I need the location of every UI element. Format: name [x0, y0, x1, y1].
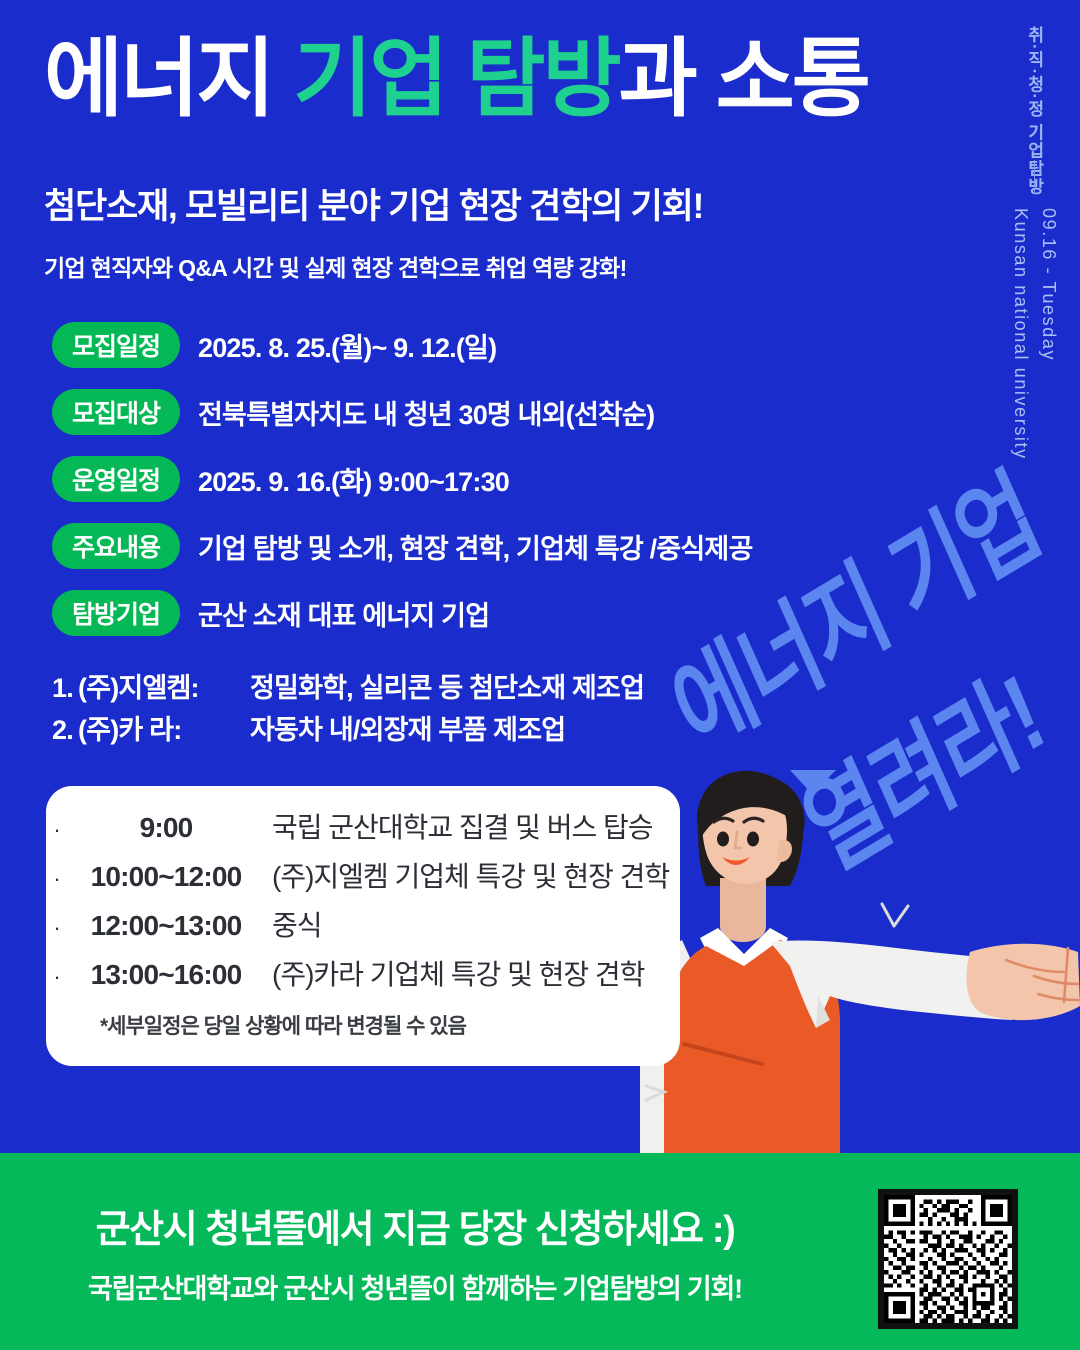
info-value-recruit-target: 전북특별자치도 내 청년 30명 내외(선착순): [198, 393, 654, 432]
rail-korean-text: 취·직·청·정 기업탐방: [1021, 26, 1047, 146]
info-badge-visit-company: 탐방기업: [52, 590, 180, 636]
info-list: 모집일정 2025. 8. 25.(월)~ 9. 12.(일) 모집대상 전북특…: [52, 322, 753, 657]
qr-code[interactable]: [878, 1189, 1018, 1329]
schedule-time: 12:00~13:00: [68, 912, 264, 940]
vertical-rail: 취·직·청·정 기업탐방 09.16 - TuesdayKunsan natio…: [988, 0, 1080, 530]
subtitle-secondary: 기업 현직자와 Q&A 시간 및 실제 현장 견학으로 취업 역량 강화!: [44, 249, 627, 283]
info-row: 탐방기업 군산 소재 대표 에너지 기업: [52, 590, 753, 636]
info-badge-recruit-target: 모집대상: [52, 389, 180, 435]
rail-english-text: 09.16 - TuesdayKunsan national universit…: [1006, 208, 1062, 460]
bullet-icon: ·: [46, 917, 68, 939]
company-description: 정밀화학, 실리콘 등 첨단소재 제조업: [250, 668, 644, 710]
info-value-main-content: 기업 탐방 및 소개, 현장 견학, 기업체 특강 /중식제공: [198, 527, 753, 566]
man-pointing-svg: [640, 770, 1080, 1153]
company-name: (주)카 라:: [78, 710, 250, 752]
info-row: 모집대상 전북특별자치도 내 청년 30명 내외(선착순): [52, 389, 753, 435]
schedule-row: · 13:00~16:00 (주)카라 기업체 특강 및 현장 견학: [46, 961, 680, 989]
info-value-operation-date: 2025. 9. 16.(화) 9:00~17:30: [198, 460, 509, 499]
schedule-time: 9:00: [68, 814, 264, 842]
title-part-2-accent: 기업 탐방: [293, 31, 618, 127]
info-value-visit-company: 군산 소재 대표 에너지 기업: [198, 594, 489, 633]
company-list: 1. (주)지엘켐: 정밀화학, 실리콘 등 첨단소재 제조업 2. (주)카 …: [52, 668, 644, 752]
info-value-recruit-period: 2025. 8. 25.(월)~ 9. 12.(일): [198, 326, 496, 365]
schedule-description: (주)카라 기업체 특강 및 현장 견학: [264, 961, 644, 989]
bullet-icon: ·: [46, 966, 68, 988]
info-badge-main-content: 주요내용: [52, 523, 180, 569]
footer-banner: 군산시 청년뜰에서 지금 당장 신청하세요 :) 국립군산대학교와 군산시 청년…: [0, 1153, 1080, 1350]
schedule-row: · 9:00 국립 군산대학교 집결 및 버스 탑승: [46, 814, 680, 842]
info-badge-operation-date: 운영일정: [52, 456, 180, 502]
title-part-1: 에너지: [44, 31, 293, 127]
footer-text-block: 군산시 청년뜰에서 지금 당장 신청하세요 :) 국립군산대학교와 군산시 청년…: [0, 1153, 830, 1350]
title-part-3: 과 소통: [619, 31, 868, 127]
list-item: 1. (주)지엘켐: 정밀화학, 실리콘 등 첨단소재 제조업: [52, 668, 644, 710]
schedule-time: 13:00~16:00: [68, 961, 264, 989]
schedule-row: · 10:00~12:00 (주)지엘켐 기업체 특강 및 현장 견학: [46, 863, 680, 891]
info-row: 운영일정 2025. 9. 16.(화) 9:00~17:30: [52, 456, 753, 502]
schedule-time: 10:00~12:00: [68, 863, 264, 891]
qr-code-icon: [884, 1195, 1012, 1323]
footer-headline: 군산시 청년뜰에서 지금 당장 신청하세요 :): [96, 1198, 735, 1253]
company-name: (주)지엘켐:: [78, 668, 250, 710]
schedule-description: 국립 군산대학교 집결 및 버스 탑승: [264, 814, 653, 842]
company-index: 1.: [52, 668, 78, 710]
schedule-description: (주)지엘켐 기업체 특강 및 현장 견학: [264, 863, 669, 891]
list-item: 2. (주)카 라: 자동차 내/외장재 부품 제조업: [52, 710, 644, 752]
schedule-description: 중식: [264, 912, 322, 940]
schedule-note: *세부일정은 당일 상황에 따라 변경될 수 있음: [46, 1010, 680, 1040]
rail-place: Kunsan national university: [1011, 208, 1031, 460]
bullet-icon: ·: [46, 819, 68, 841]
page-title: 에너지 기업 탐방과 소통: [44, 34, 868, 124]
rail-divider: [1034, 160, 1035, 194]
poster-root: 에너지 기업 열려라! 취·직·청·정 기업탐방 09.16 - Tuesday…: [0, 0, 1080, 1350]
subtitle-primary: 첨단소재, 모빌리티 분야 기업 현장 견학의 기회!: [44, 178, 703, 229]
schedule-row: · 12:00~13:00 중식: [46, 912, 680, 940]
illustration-man-pointing: [640, 770, 1080, 1153]
rail-date: 09.16 - Tuesday: [1039, 208, 1059, 361]
footer-subline: 국립군산대학교와 군산시 청년뜰이 함께하는 기업탐방의 기회!: [88, 1267, 742, 1306]
company-index: 2.: [52, 710, 78, 752]
bullet-icon: ·: [46, 868, 68, 890]
company-description: 자동차 내/외장재 부품 제조업: [250, 710, 644, 752]
info-row: 주요내용 기업 탐방 및 소개, 현장 견학, 기업체 특강 /중식제공: [52, 523, 753, 569]
info-row: 모집일정 2025. 8. 25.(월)~ 9. 12.(일): [52, 322, 753, 368]
schedule-card: · 9:00 국립 군산대학교 집결 및 버스 탑승 · 10:00~12:00…: [46, 786, 680, 1066]
info-badge-recruit-period: 모집일정: [52, 322, 180, 368]
